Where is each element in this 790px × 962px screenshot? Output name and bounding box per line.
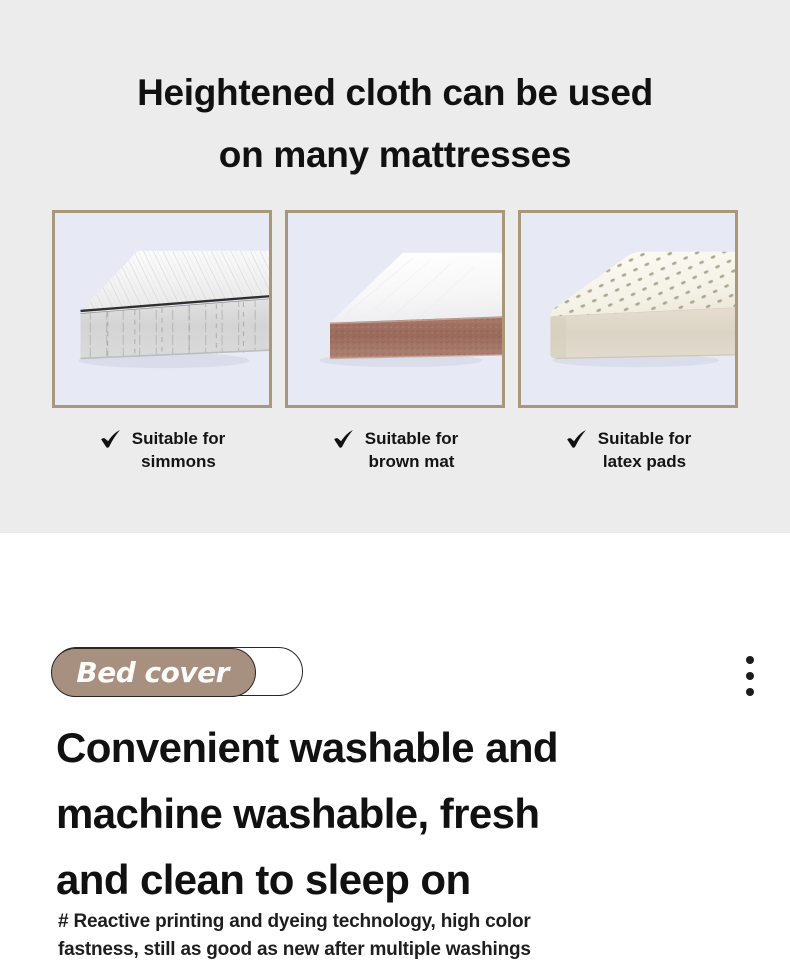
- bed-cover-badge: Bed cover: [52, 647, 303, 696]
- check-icon: [332, 428, 356, 452]
- check-icon: [565, 428, 589, 452]
- bed-cover-body-text: # Reactive printing and dyeing technolog…: [58, 908, 758, 962]
- bed-cover-section: Bed cover Convenient washable and machin…: [0, 533, 790, 962]
- badge-label: Bed cover: [76, 659, 229, 687]
- compatibility-caption-simmons: Suitable for simmons: [52, 427, 272, 473]
- compatibility-title-line-1: Heightened cloth can be used: [0, 62, 790, 124]
- caption-line-1: Suitable for: [132, 429, 226, 448]
- compatibility-title-line-2: on many mattresses: [0, 124, 790, 186]
- check-icon: [99, 428, 123, 452]
- compatibility-caption-text: Suitable for latex pads: [598, 427, 692, 473]
- compatibility-card-brown-mat[interactable]: [285, 210, 505, 408]
- compatibility-section: Heightened cloth can be used on many mat…: [0, 0, 790, 533]
- compatibility-caption-brown-mat: Suitable for brown mat: [285, 427, 505, 473]
- badge-outer-pill: Bed cover: [52, 647, 303, 696]
- badge-inner-pill: Bed cover: [51, 648, 256, 697]
- compatibility-card-row: [0, 210, 790, 408]
- caption-line-2: latex pads: [603, 452, 686, 471]
- compatibility-caption-text: Suitable for simmons: [132, 427, 226, 473]
- compatibility-card-latex-pads[interactable]: [518, 210, 738, 408]
- compatibility-card-simmons[interactable]: [52, 210, 272, 408]
- kebab-dot-2: [746, 672, 754, 680]
- caption-line-2: brown mat: [369, 452, 455, 471]
- latex-pad-image: [521, 213, 735, 405]
- kebab-dot-1: [746, 656, 754, 664]
- compatibility-caption-row: Suitable for simmons Suitable for brown …: [0, 427, 790, 473]
- kebab-menu-icon[interactable]: [746, 656, 754, 696]
- kebab-dot-3: [746, 688, 754, 696]
- bed-cover-body-line-1: # Reactive printing and dyeing technolog…: [58, 908, 758, 936]
- bed-cover-heading-line-3: and clean to sleep on: [56, 847, 746, 913]
- caption-line-1: Suitable for: [598, 429, 692, 448]
- simmons-mattress-image: [55, 213, 269, 405]
- bed-cover-body-line-2: fastness, still as good as new after mul…: [58, 936, 758, 962]
- brown-mat-image: [288, 213, 502, 405]
- bed-cover-heading-line-2: machine washable, fresh: [56, 781, 746, 847]
- bed-cover-heading-line-1: Convenient washable and: [56, 715, 746, 781]
- compatibility-title: Heightened cloth can be used on many mat…: [0, 0, 790, 186]
- compatibility-caption-latex-pads: Suitable for latex pads: [518, 427, 738, 473]
- caption-line-1: Suitable for: [365, 429, 459, 448]
- caption-line-2: simmons: [141, 452, 216, 471]
- compatibility-caption-text: Suitable for brown mat: [365, 427, 459, 473]
- bed-cover-heading: Convenient washable and machine washable…: [56, 715, 746, 913]
